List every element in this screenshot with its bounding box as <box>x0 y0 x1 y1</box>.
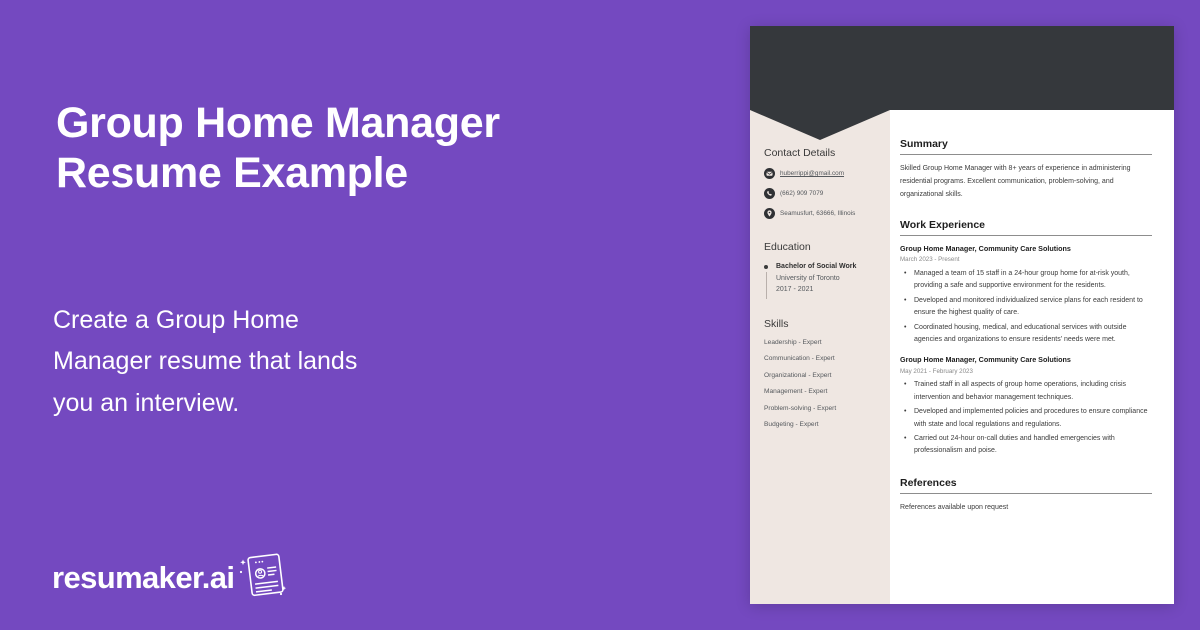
subhead-line-2: Manager resume that lands <box>53 341 453 382</box>
job-bullet: Coordinated housing, medical, and educat… <box>900 322 1152 347</box>
references-text: References available upon request <box>900 502 1152 515</box>
contact-email[interactable]: huberrippi@gmail.com <box>780 168 844 179</box>
contact-row-location: Seamusfurt, 63666, Illinois <box>764 208 876 219</box>
headline-line-2: Resume Example <box>56 148 656 198</box>
bullet-dot-icon <box>764 265 768 269</box>
phone-icon <box>764 188 775 199</box>
section-divider <box>900 154 1152 155</box>
job-date: May 2021 - February 2023 <box>900 367 1152 376</box>
resumaker-logo: resumaker.ai <box>52 552 288 603</box>
job-entry: Group Home Manager, Community Care Solut… <box>900 355 1152 457</box>
headline-line-1: Group Home Manager <box>56 98 656 148</box>
logo-wordmark: resumaker.ai <box>52 560 234 596</box>
resume-main-column: Summary Skilled Group Home Manager with … <box>890 110 1174 604</box>
skill-item: Organizational - Expert <box>764 372 876 379</box>
education-years: 2017 - 2021 <box>776 284 876 295</box>
resume-preview-card[interactable]: Huber Rippi Group Home Manager Contact D… <box>750 26 1174 604</box>
subhead-line-3: you an interview. <box>53 383 453 424</box>
summary-heading: Summary <box>900 138 1152 150</box>
promo-panel: Group Home Manager Resume Example Create… <box>0 0 750 630</box>
contact-row-phone[interactable]: (662) 909 7079 <box>764 188 876 199</box>
job-bullet: Developed and implemented policies and p… <box>900 406 1152 431</box>
spacer <box>900 348 1152 355</box>
timeline-line <box>766 272 767 299</box>
contact-location: Seamusfurt, 63666, Illinois <box>780 208 855 219</box>
contact-row-email[interactable]: huberrippi@gmail.com <box>764 168 876 179</box>
education-item: Bachelor of Social Work University of To… <box>764 262 876 296</box>
skill-item: Problem-solving - Expert <box>764 405 876 412</box>
skill-item: Communication - Expert <box>764 355 876 362</box>
skills-heading: Skills <box>764 318 876 330</box>
skill-item: Budgeting - Expert <box>764 421 876 428</box>
education-heading: Education <box>764 241 876 253</box>
summary-text: Skilled Group Home Manager with 8+ years… <box>900 163 1152 201</box>
job-date: March 2023 - Present <box>900 255 1152 264</box>
spacer <box>900 202 1152 219</box>
resume-sidebar: Contact Details huberrippi@gmail.com (66… <box>750 110 890 604</box>
skill-item: Management - Expert <box>764 388 876 395</box>
location-pin-icon <box>764 208 775 219</box>
resume-header <box>750 26 1174 110</box>
job-bullet: Trained staff in all aspects of group ho… <box>900 379 1152 404</box>
document-profile-icon <box>236 552 288 603</box>
job-entry: Group Home Manager, Community Care Solut… <box>900 244 1152 346</box>
section-divider <box>900 493 1152 494</box>
education-degree: Bachelor of Social Work <box>776 262 876 273</box>
job-title: Group Home Manager, Community Care Solut… <box>900 244 1152 254</box>
work-experience-heading: Work Experience <box>900 219 1152 231</box>
job-bullet: Carried out 24-hour on-call duties and h… <box>900 433 1152 458</box>
job-bullet: Developed and monitored individualized s… <box>900 295 1152 320</box>
references-heading: References <box>900 477 1152 489</box>
page-title: Group Home Manager Resume Example <box>56 98 656 199</box>
promo-subheadline: Create a Group Home Manager resume that … <box>53 300 453 424</box>
job-title: Group Home Manager, Community Care Solut… <box>900 355 1152 365</box>
skill-item: Leadership - Expert <box>764 339 876 346</box>
subhead-line-1: Create a Group Home <box>53 300 453 341</box>
contact-phone: (662) 909 7079 <box>780 188 823 199</box>
job-bullet: Managed a team of 15 staff in a 24-hour … <box>900 268 1152 293</box>
spacer <box>900 460 1152 477</box>
contact-details-heading: Contact Details <box>764 147 876 159</box>
envelope-icon <box>764 168 775 179</box>
section-divider <box>900 235 1152 236</box>
education-school: University of Toronto <box>776 273 876 284</box>
